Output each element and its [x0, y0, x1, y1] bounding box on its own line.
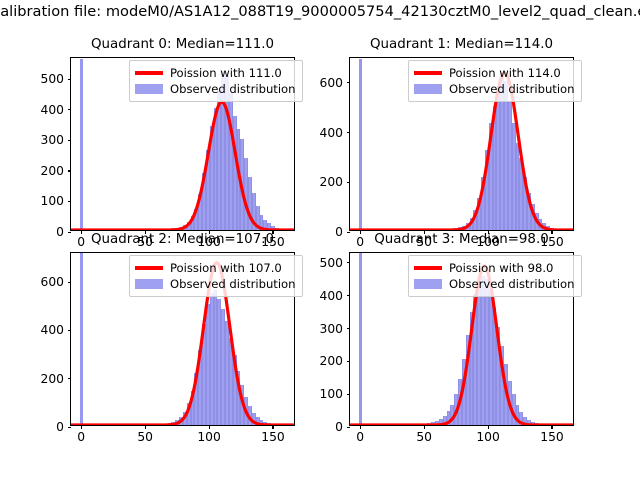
- x-tick-mark: [424, 425, 425, 429]
- legend-quadrant-0: Poission with 111.0Observed distribution: [129, 60, 303, 102]
- legend-label-observed: Observed distribution: [170, 82, 296, 97]
- y-tick-mark: [68, 282, 72, 283]
- legend-entry-observed: Observed distribution: [414, 81, 575, 97]
- x-tick-mark: [272, 425, 273, 429]
- legend-label-poisson: Poission with 107.0: [170, 261, 282, 276]
- y-tick-label: 100: [320, 388, 343, 400]
- subplot-title-quadrant-2: Quadrant 2: Median=107.0: [71, 232, 294, 248]
- y-tick-label: 600: [320, 77, 343, 89]
- subplot-title-quadrant-1: Quadrant 1: Median=114.0: [350, 37, 573, 53]
- legend-label-observed: Observed distribution: [449, 82, 575, 97]
- y-tick-label: 600: [41, 276, 64, 288]
- y-tick-label: 200: [320, 355, 343, 367]
- x-tick-mark: [209, 425, 210, 429]
- matplotlib-figure: Calibration file: modeM0/AS1A12_088T19_9…: [0, 0, 640, 480]
- legend-label-observed: Observed distribution: [170, 277, 296, 292]
- suptitle-text: Calibration file: modeM0/AS1A12_088T19_9…: [0, 3, 640, 21]
- legend-entry-poisson: Poission with 111.0: [135, 65, 296, 81]
- x-tick-mark: [551, 425, 552, 429]
- subplot-title-quadrant-0: Quadrant 0: Median=111.0: [71, 37, 294, 53]
- x-tick-mark: [488, 425, 489, 429]
- legend-entry-observed: Observed distribution: [414, 276, 575, 292]
- y-tick-label: 400: [41, 324, 64, 336]
- figure-suptitle: Calibration file: modeM0/AS1A12_088T19_9…: [0, 3, 640, 21]
- y-tick-mark: [68, 427, 72, 428]
- legend-patch-swatch: [135, 82, 163, 96]
- y-tick-label: 200: [320, 176, 343, 188]
- x-tick-mark: [81, 425, 82, 429]
- legend-line-swatch: [135, 261, 163, 275]
- axes-quadrant-0: Quadrant 0: Median=111.00100200300400500…: [70, 57, 295, 231]
- y-tick-label: 0: [56, 226, 64, 238]
- x-tick-label: 50: [137, 430, 153, 444]
- legend-line-swatch: [135, 66, 163, 80]
- y-tick-label: 200: [41, 165, 64, 177]
- y-tick-mark: [347, 328, 351, 329]
- y-tick-label: 500: [41, 73, 64, 85]
- y-tick-mark: [347, 262, 351, 263]
- y-tick-label: 0: [56, 421, 64, 433]
- legend-quadrant-2: Poission with 107.0Observed distribution: [129, 255, 303, 297]
- legend-label-observed: Observed distribution: [449, 277, 575, 292]
- x-tick-label: 50: [416, 430, 432, 444]
- x-tick-label: 0: [356, 430, 364, 444]
- y-tick-mark: [347, 82, 351, 83]
- x-tick-label: 100: [476, 430, 499, 444]
- legend-quadrant-3: Poission with 98.0Observed distribution: [408, 255, 582, 297]
- y-tick-mark: [347, 182, 351, 183]
- legend-line-swatch: [414, 66, 442, 80]
- y-tick-mark: [68, 109, 72, 110]
- y-tick-mark: [68, 79, 72, 80]
- y-tick-label: 0: [335, 226, 343, 238]
- x-tick-label: 0: [77, 430, 85, 444]
- x-tick-label: 150: [540, 430, 563, 444]
- legend-entry-observed: Observed distribution: [135, 276, 296, 292]
- y-tick-label: 400: [320, 290, 343, 302]
- x-tick-label: 150: [261, 430, 284, 444]
- legend-quadrant-1: Poission with 114.0Observed distribution: [408, 60, 582, 102]
- legend-entry-observed: Observed distribution: [135, 81, 296, 97]
- legend-patch-swatch: [135, 277, 163, 291]
- y-tick-label: 400: [41, 104, 64, 116]
- y-tick-mark: [347, 132, 351, 133]
- y-tick-mark: [68, 170, 72, 171]
- legend-label-poisson: Poission with 111.0: [170, 66, 282, 81]
- legend-entry-poisson: Poission with 114.0: [414, 65, 575, 81]
- axes-quadrant-3: Quadrant 3: Median=98.001002003004005000…: [349, 252, 574, 426]
- legend-patch-swatch: [414, 82, 442, 96]
- legend-line-swatch: [414, 261, 442, 275]
- y-tick-label: 500: [320, 257, 343, 269]
- y-tick-label: 100: [41, 195, 64, 207]
- y-tick-mark: [347, 361, 351, 362]
- y-tick-label: 0: [335, 421, 343, 433]
- y-tick-mark: [68, 378, 72, 379]
- y-tick-mark: [68, 330, 72, 331]
- legend-label-poisson: Poission with 98.0: [449, 261, 553, 276]
- y-tick-mark: [68, 140, 72, 141]
- legend-entry-poisson: Poission with 107.0: [135, 260, 296, 276]
- x-tick-label: 100: [197, 430, 220, 444]
- y-tick-label: 200: [41, 373, 64, 385]
- axes-quadrant-1: Quadrant 1: Median=114.00200400600050100…: [349, 57, 574, 231]
- axes-quadrant-2: Quadrant 2: Median=107.00200400600050100…: [70, 252, 295, 426]
- y-tick-mark: [347, 394, 351, 395]
- y-tick-label: 300: [41, 134, 64, 146]
- x-tick-mark: [360, 425, 361, 429]
- legend-entry-poisson: Poission with 98.0: [414, 260, 575, 276]
- subplot-title-quadrant-3: Quadrant 3: Median=98.0: [350, 232, 573, 248]
- y-tick-mark: [68, 201, 72, 202]
- legend-patch-swatch: [414, 277, 442, 291]
- y-tick-label: 300: [320, 323, 343, 335]
- y-tick-label: 400: [320, 127, 343, 139]
- x-tick-mark: [145, 425, 146, 429]
- y-tick-mark: [347, 295, 351, 296]
- y-tick-mark: [347, 427, 351, 428]
- legend-label-poisson: Poission with 114.0: [449, 66, 561, 81]
